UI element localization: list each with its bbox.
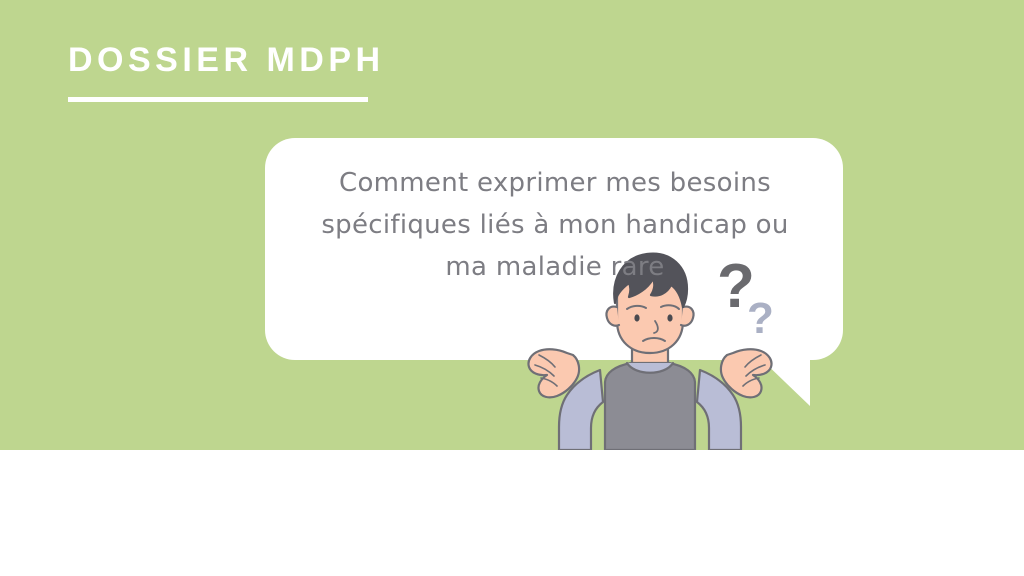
right-eye (667, 314, 672, 321)
page-title: DOSSIER MDPH (68, 42, 668, 79)
footer-bar: GNCHR filières de santé maladies rares A… (0, 450, 1024, 576)
bubble-line-2: spécifiques liés à mon handicap ou (290, 204, 820, 246)
title-underline-rule (68, 97, 368, 102)
bubble-line-3: ma maladie rare (290, 246, 820, 288)
vest (605, 363, 695, 450)
left-ear (606, 307, 619, 326)
slide-canvas: DOSSIER MDPH Comment exprimer mes besoin… (0, 0, 1024, 576)
bubble-line-1: Comment exprimer mes besoins (290, 162, 820, 204)
title-block: DOSSIER MDPH (68, 42, 668, 79)
left-eye (634, 314, 639, 321)
speech-bubble-text: Comment exprimer mes besoins spécifiques… (290, 162, 820, 288)
right-ear (681, 307, 694, 326)
question-mark-small-icon: ? (747, 294, 774, 343)
